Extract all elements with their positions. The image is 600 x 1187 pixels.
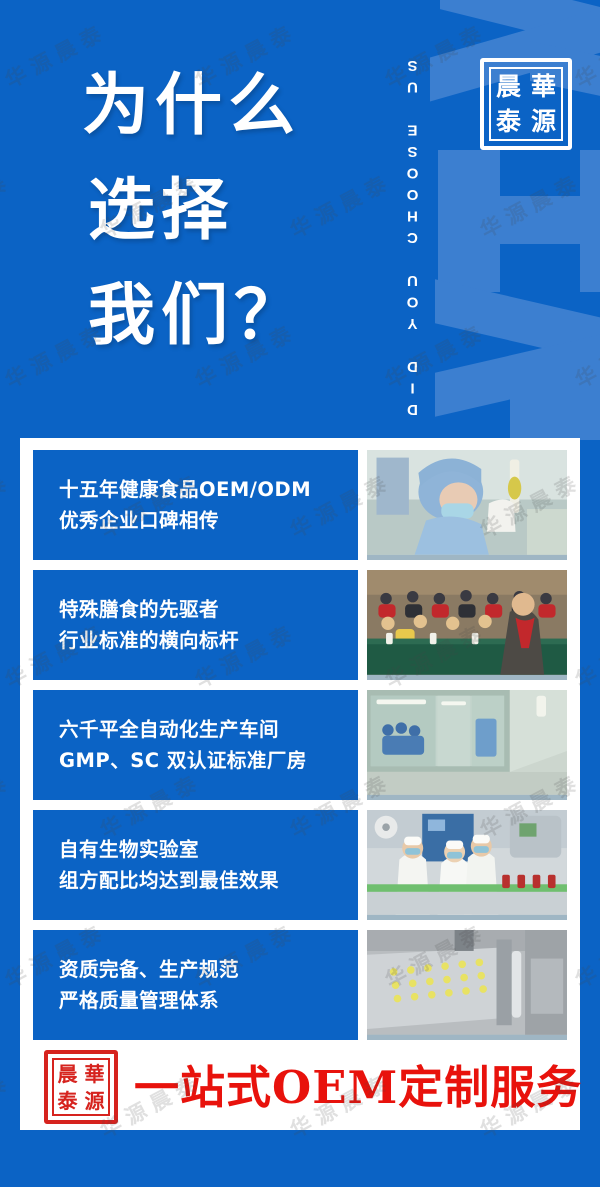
list-item: 资质完备、生产规范 严格质量管理体系 [33, 930, 567, 1040]
company-seal-logo-icon: 晨 華 泰 源 [480, 58, 572, 150]
poster-header: 为什么 选择 我们？ DID YOU CHOOSE US 晨 華 泰 源 [0, 0, 600, 440]
photo-art [367, 810, 567, 915]
photo-art [367, 690, 567, 795]
bottom-banner: 晨 華 泰 源 一站式OEM定制服务 [20, 1044, 580, 1130]
photo-art [367, 930, 567, 1035]
photo-art [367, 570, 567, 675]
feature-photo-conference [367, 570, 567, 680]
feature-photo-cleanroom [367, 690, 567, 800]
banner-seal-char-3: 泰 [54, 1087, 81, 1114]
feature-photo-blister-packing [367, 930, 567, 1040]
company-seal-stamp-icon: 晨 華 泰 源 [44, 1050, 118, 1124]
watermark-text: 华源晨泰 [0, 765, 17, 844]
feature-line-2: 行业标准的横向标杆 [59, 625, 358, 656]
feature-line-2: 严格质量管理体系 [59, 985, 358, 1016]
feature-line-1: 十五年健康食品OEM/ODM [59, 474, 358, 505]
feature-text-card: 六千平全自动化生产车间 GMP、SC 双认证标准厂房 [33, 690, 358, 800]
list-item: 特殊膳食的先驱者 行业标准的横向标杆 [33, 570, 567, 680]
feature-line-2: 组方配比均达到最佳效果 [59, 865, 358, 896]
feature-text-card: 特殊膳食的先驱者 行业标准的横向标杆 [33, 570, 358, 680]
photo-art [367, 450, 567, 555]
feature-line-2: GMP、SC 双认证标准厂房 [59, 745, 358, 776]
list-item: 自有生物实验室 组方配比均达到最佳效果 [33, 810, 567, 920]
content-panel: 十五年健康食品OEM/ODM 优秀企业口碑相传 [20, 438, 580, 1130]
watermark-text: 华源晨泰 [0, 1065, 17, 1144]
feature-card-list: 十五年健康食品OEM/ODM 优秀企业口碑相传 [33, 450, 567, 1040]
seal-char-2: 華 [526, 69, 561, 104]
feature-line-1: 自有生物实验室 [59, 834, 358, 865]
page-title: 为什么 选择 我们？ [82, 52, 402, 367]
feature-line-1: 特殊膳食的先驱者 [59, 594, 358, 625]
title-line-2: 选择 [82, 157, 402, 262]
vertical-english-tagline: DID YOU CHOOSE US [404, 18, 430, 418]
title-line-1: 为什么 [82, 52, 402, 157]
title-line-3: 我们？ [82, 262, 402, 367]
feature-text-card: 自有生物实验室 组方配比均达到最佳效果 [33, 810, 358, 920]
banner-slogan: 一站式OEM定制服务 [134, 1065, 582, 1110]
banner-seal-char-1: 晨 [54, 1060, 81, 1087]
feature-text-card: 资质完备、生产规范 严格质量管理体系 [33, 930, 358, 1040]
seal-char-3: 泰 [491, 104, 526, 139]
seal-char-4: 源 [526, 104, 561, 139]
seal-char-1: 晨 [491, 69, 526, 104]
banner-seal-char-4: 源 [81, 1087, 108, 1114]
list-item: 六千平全自动化生产车间 GMP、SC 双认证标准厂房 [33, 690, 567, 800]
poster-root: 为什么 选择 我们？ DID YOU CHOOSE US 晨 華 泰 源 十五年… [0, 0, 600, 1187]
feature-line-2: 优秀企业口碑相传 [59, 505, 358, 536]
banner-seal-char-2: 華 [81, 1060, 108, 1087]
feature-photo-lab-technician [367, 450, 567, 560]
list-item: 十五年健康食品OEM/ODM 优秀企业口碑相传 [33, 450, 567, 560]
watermark-text: 华源晨泰 [0, 465, 17, 544]
feature-line-1: 六千平全自动化生产车间 [59, 714, 358, 745]
feature-text-card: 十五年健康食品OEM/ODM 优秀企业口碑相传 [33, 450, 358, 560]
feature-line-1: 资质完备、生产规范 [59, 954, 358, 985]
feature-photo-production-line [367, 810, 567, 920]
